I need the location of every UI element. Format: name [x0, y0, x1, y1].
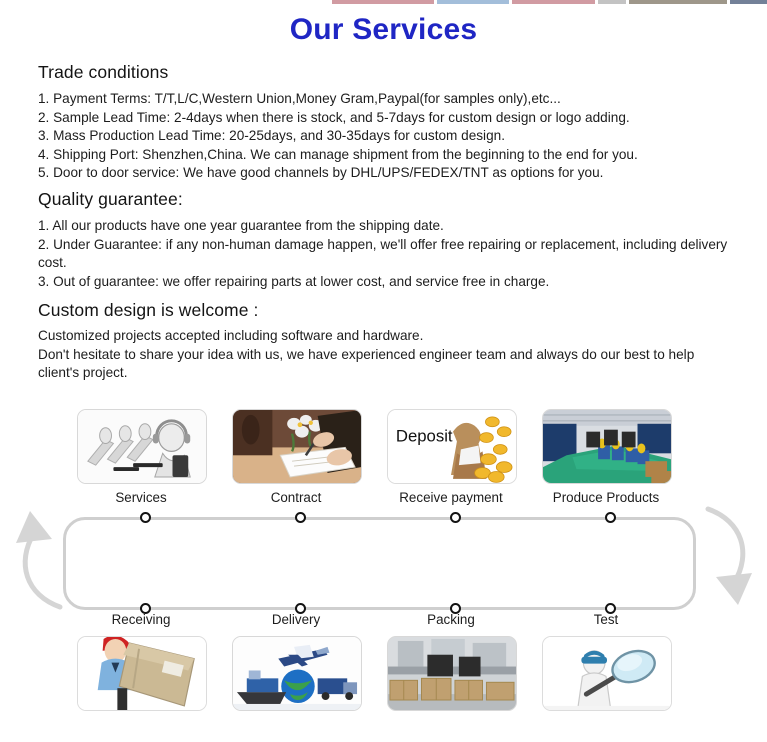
factory-line-icon: [543, 410, 671, 484]
section-heading: Custom design is welcome :: [38, 300, 738, 321]
flow-node-contract[interactable]: [295, 512, 306, 523]
step-caption-services: Services: [61, 490, 221, 505]
section-line: 3. Out of guarantee: we offer repairing …: [38, 273, 738, 292]
flow-node-services[interactable]: [140, 512, 151, 523]
step-tile-delivery[interactable]: [232, 636, 362, 711]
flow-node-receive-payment[interactable]: [450, 512, 461, 523]
section-heading: Trade conditions: [38, 62, 738, 83]
banner-chip-2: [512, 0, 595, 4]
step-tile-contract[interactable]: [232, 409, 362, 484]
step-caption-contract: Contract: [216, 490, 376, 505]
step-caption-test: Test: [526, 612, 686, 627]
cycle-arrow-down-icon: [690, 503, 760, 613]
step-tile-packing[interactable]: [387, 636, 517, 711]
section-line: Customized projects accepted including s…: [38, 327, 738, 346]
step-tile-receive-payment[interactable]: Deposit: [387, 409, 517, 484]
step-tile-test[interactable]: [542, 636, 672, 711]
section-line: 3. Mass Production Lead Time: 20-25days,…: [38, 127, 738, 146]
section-quality-guarantee: Quality guarantee: 1. All our products h…: [38, 189, 738, 291]
page-title: Our Services: [0, 13, 767, 47]
step-caption-delivery: Delivery: [216, 612, 376, 627]
section-custom-design: Custom design is welcome : Customized pr…: [38, 300, 738, 383]
section-line: 1. All our products have one year guaran…: [38, 217, 738, 236]
section-line: 1. Payment Terms: T/T,L/C,Western Union,…: [38, 90, 738, 109]
banner-chip-3: [598, 0, 626, 4]
top-banner-sliver: [0, 0, 767, 5]
deposit-money-icon: Deposit: [388, 410, 516, 484]
section-heading: Quality guarantee:: [38, 189, 738, 210]
global-shipping-icon: [233, 637, 361, 711]
banner-chip-4: [629, 0, 727, 4]
section-line: 2. Under Guarantee: if any non-human dam…: [38, 236, 738, 273]
step-caption-receiving: Receiving: [61, 612, 221, 627]
section-line: 2. Sample Lead Time: 2-4days when there …: [38, 109, 738, 128]
step-tile-services[interactable]: [77, 409, 207, 484]
banner-chip-0: [332, 0, 434, 4]
signing-icon: [233, 410, 361, 484]
cycle-arrow-up-icon: [8, 503, 78, 613]
magnifier-qc-icon: [543, 637, 671, 711]
call-center-icon: [78, 410, 206, 484]
step-tile-produce-products[interactable]: [542, 409, 672, 484]
section-line: Don't hesitate to share your idea with u…: [38, 346, 738, 383]
banner-chip-5: [730, 0, 767, 4]
svg-text:Deposit: Deposit: [396, 427, 453, 446]
warehouse-boxes-icon: [388, 637, 516, 711]
service-process-flow: Services: [0, 400, 767, 742]
section-line: 4. Shipping Port: Shenzhen,China. We can…: [38, 146, 738, 165]
banner-chip-1: [437, 0, 509, 4]
step-caption-packing: Packing: [371, 612, 531, 627]
flow-node-produce-products[interactable]: [605, 512, 616, 523]
courier-parcel-icon: [78, 637, 206, 711]
flow-track: [63, 517, 696, 610]
section-line: 5. Door to door service: We have good ch…: [38, 164, 738, 183]
section-trade-conditions: Trade conditions 1. Payment Terms: T/T,L…: [38, 62, 738, 183]
step-caption-produce-products: Produce Products: [526, 490, 686, 505]
step-caption-receive-payment: Receive payment: [371, 490, 531, 505]
step-tile-receiving[interactable]: [77, 636, 207, 711]
